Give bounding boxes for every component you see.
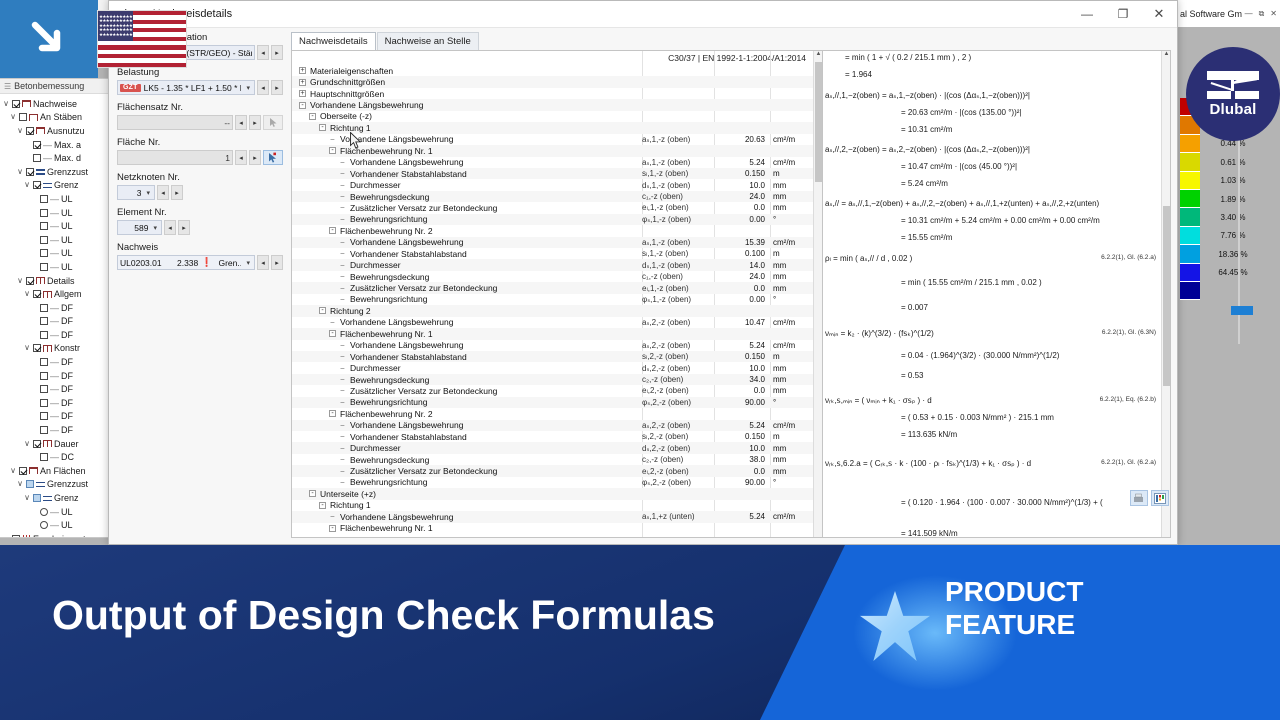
label-nachweis: Nachweis <box>117 242 283 253</box>
formula-line: = min ( 1 + √ ( 0.2 / 215.1 mm ) , 2 ) <box>845 53 971 62</box>
collapse-icon[interactable]: - <box>318 124 327 131</box>
dash-icon: — <box>50 248 59 258</box>
secondary-minimize-icon[interactable]: — <box>1242 9 1256 18</box>
navigator-item[interactable]: ∨An Stäben <box>2 111 109 125</box>
belastung-prev-button[interactable]: ◂ <box>257 80 269 95</box>
checkbox-icon[interactable] <box>12 100 20 108</box>
combo-element-nr[interactable]: 589 ▾ <box>117 220 162 235</box>
tag-gzt-2: GZT <box>120 84 141 92</box>
promo-banner: Output of Design Check Formulas PRODUCT … <box>0 545 1280 720</box>
field-belastung: Belastung GZT LK5 - 1.35 * LF1 + 1.50 * … <box>117 67 283 95</box>
row-cells: c₂,-z (oben)34.0mm <box>642 374 810 385</box>
flaechensatz-prev-button[interactable]: ◂ <box>235 115 247 130</box>
table-row[interactable]: –Durchmesserdₛ,2,-z (oben)10.0mm <box>292 442 822 453</box>
banner-badge-line2: FEATURE <box>945 610 1083 639</box>
table-row[interactable]: –Vorhandene Längsbewehrungaₛ,1,-z (oben)… <box>292 134 822 145</box>
combo-netzknoten-nr[interactable]: 3 ▾ <box>117 185 155 200</box>
twisty-icon[interactable]: ∨ <box>16 168 24 176</box>
table-row[interactable]: –Bewehrungsrichtungφₛ,2,-z (oben)90.00° <box>292 397 822 408</box>
row-label: Vorhandene Längsbewehrung <box>307 100 423 110</box>
design-check-tree[interactable]: C30/37 | EN 1992-1-1:2004/A1:2014 +Mater… <box>291 50 823 538</box>
cell-symbol: aₛ,1,-z (oben) <box>642 135 714 144</box>
formula-scroll-thumb[interactable] <box>1163 206 1170 386</box>
navigator-item[interactable]: —DF <box>2 369 109 383</box>
checkbox-icon[interactable] <box>40 236 48 244</box>
navigator-item-label: UL <box>61 235 73 245</box>
cell-symbol: aₛ,1,-z (oben) <box>642 158 714 167</box>
table-row[interactable]: -Richtung 2 <box>292 305 822 316</box>
navigator-item-label: DF <box>61 357 73 367</box>
row-cells: φₛ,1,-z (oben)0.00° <box>642 294 810 305</box>
table-row[interactable]: –Zusätzlicher Versatz zur Betondeckungeₗ… <box>292 282 822 293</box>
row-label: Richtung 1 <box>327 123 371 133</box>
row-cells: φₛ,1,-z (oben)0.00° <box>642 214 810 225</box>
checkbox-icon[interactable] <box>33 141 41 149</box>
table-row[interactable]: –Durchmesserdₛ,2,-z (oben)10.0mm <box>292 362 822 373</box>
selection-form: Bemessungssituation GZT BS1 - GZT (STR/G… <box>109 28 291 544</box>
cell-symbol: eₗ,2,-z (oben) <box>642 386 714 395</box>
double-icon <box>43 439 52 448</box>
dash-icon: — <box>50 194 59 204</box>
secondary-close-icon[interactable]: ✕ <box>1267 9 1280 18</box>
row-cells <box>642 225 810 236</box>
cell-value: 20.63 <box>714 135 770 144</box>
navigator-item[interactable]: ∨Dauer <box>2 437 109 451</box>
table-row[interactable]: -Flächenbewehrung Nr. 1 <box>292 523 822 534</box>
element-chevron-down-icon[interactable]: ▾ <box>151 224 159 232</box>
checkbox-icon[interactable] <box>40 195 48 203</box>
expand-icon[interactable]: + <box>298 67 307 74</box>
table-row[interactable]: –Vorhandener Stabstahlabstandsₗ,2,-z (ob… <box>292 351 822 362</box>
checkbox-icon[interactable] <box>33 181 41 189</box>
table-row[interactable]: –Bewehrungsdeckungc₂,-z (oben)38.0mm <box>292 454 822 465</box>
formula-line: νᵣₖ,ꜱ,ₘᵢₙ = ( νₘᵢₙ + k₁ · σꜱₚ ) · d <box>825 396 932 405</box>
legend-value-label: 1.03 % <box>1202 172 1264 190</box>
collapse-icon[interactable]: - <box>308 113 317 120</box>
row-cells: aₛ,1,-z (oben)20.63cm²/m <box>642 134 810 145</box>
arrow-down-right-icon <box>27 17 71 61</box>
cell-unit: mm <box>770 467 810 476</box>
table-row[interactable]: -Flächenbewehrung Nr. 1 <box>292 145 822 156</box>
navigator-item[interactable]: —UL <box>2 233 109 247</box>
navigator-item[interactable]: —DF <box>2 355 109 369</box>
graphic-settings-icon[interactable] <box>1151 490 1169 506</box>
row-cells <box>642 99 810 110</box>
table-row[interactable]: –Bewehrungsrichtungφₛ,2,-z (oben)90.00° <box>292 477 822 488</box>
navigator-item[interactable]: —UL <box>2 518 109 532</box>
checkbox-icon[interactable] <box>40 304 48 312</box>
leaf-marker: – <box>338 353 347 360</box>
input-flaeche-nr[interactable]: 1 <box>117 150 233 165</box>
row-cells: aₛ,1,-z (oben)5.24cm²/m <box>642 157 810 168</box>
twisty-icon[interactable]: ∨ <box>23 440 31 448</box>
checkbox-icon[interactable] <box>19 113 27 121</box>
navigator-item[interactable]: —UL <box>2 192 109 206</box>
cell-unit: mm <box>770 203 810 212</box>
checkbox-icon[interactable] <box>12 535 20 538</box>
navigator-item[interactable]: ∨Grenz <box>2 491 109 505</box>
radio-icon[interactable] <box>40 521 48 529</box>
flaeche-next-button[interactable]: ▸ <box>249 150 261 165</box>
collapse-icon[interactable]: - <box>328 227 337 234</box>
nachweis-prev-button[interactable]: ◂ <box>257 255 269 270</box>
leaf-marker: – <box>328 319 337 326</box>
formula-line: ρₗ = min ( aₛ,// / d , 0.02 ) <box>825 254 912 263</box>
row-cells: sₗ,1,-z (oben)0.100m <box>642 248 810 259</box>
collapse-icon[interactable]: - <box>308 490 317 497</box>
table-row[interactable]: –Durchmesserdₛ,1,-z (oben)10.0mm <box>292 179 822 190</box>
twisty-icon[interactable]: ∨ <box>16 127 24 135</box>
row-cells: eₗ,2,-z (oben)0.0mm <box>642 465 810 476</box>
table-row[interactable]: –Vorhandene Längsbewehrungaₛ,2,-z (oben)… <box>292 317 822 328</box>
leaf-marker: – <box>338 193 347 200</box>
legend-color-segment <box>1180 153 1200 171</box>
navigator-item[interactable]: ∨Grenzzust <box>2 478 109 492</box>
label-flaechensatz-nr: Flächensatz Nr. <box>117 102 283 113</box>
checkbox-icon[interactable] <box>40 222 48 230</box>
collapse-icon[interactable]: - <box>318 307 327 314</box>
navigator-item[interactable]: ∨Allgem <box>2 287 109 301</box>
navigator-item[interactable]: —DF <box>2 315 109 329</box>
table-row[interactable]: –Durchmesserdₛ,1,-z (oben)14.0mm <box>292 259 822 270</box>
table-row[interactable]: –Zusätzlicher Versatz zur Betondeckungeₗ… <box>292 202 822 213</box>
navigator-item[interactable]: —DF <box>2 410 109 424</box>
tree-rows-container[interactable]: +Materialeigenschaften+Grundschnittgröße… <box>292 65 822 534</box>
legend-color-segment <box>1180 135 1200 153</box>
tree-scroll-up-icon[interactable]: ▲ <box>814 51 823 61</box>
twisty-icon[interactable]: ∨ <box>16 480 24 488</box>
nachweis-chevron-down-icon[interactable]: ▾ <box>244 259 252 267</box>
navigator-item[interactable]: —Max. d <box>2 151 109 165</box>
row-label: Oberseite (-z) <box>317 111 372 121</box>
navigator-item[interactable]: —DC <box>2 450 109 464</box>
nachweis-next-button[interactable]: ▸ <box>271 255 283 270</box>
cell-value: 5.24 <box>714 421 770 430</box>
twisty-icon[interactable]: ∨ <box>16 277 24 285</box>
cell-unit: mm <box>770 386 810 395</box>
element-prev-button[interactable]: ◂ <box>164 220 176 235</box>
expand-icon[interactable]: + <box>298 90 307 97</box>
checkbox-icon[interactable] <box>40 209 48 217</box>
frame-icon <box>29 113 38 122</box>
netzknoten-prev-button[interactable]: ◂ <box>157 185 169 200</box>
twisty-icon[interactable]: ∨ <box>2 100 10 108</box>
flaeche-prev-button[interactable]: ◂ <box>235 150 247 165</box>
cell-unit: cm²/m <box>770 318 810 327</box>
formula-scrollbar[interactable]: ▲ <box>1161 51 1170 537</box>
checkbox-icon[interactable] <box>33 344 41 352</box>
leaf-marker: – <box>338 456 347 463</box>
tab-nachweisdetails[interactable]: Nachweisdetails <box>291 32 376 50</box>
cell-unit: cm²/m <box>770 341 810 350</box>
cell-value: 90.00 <box>714 478 770 487</box>
navigator-item-label: Ergebniswerte <box>33 534 91 538</box>
formula-output-pane[interactable]: = min ( 1 + √ ( 0.2 / 215.1 mm ) , 2 )= … <box>823 50 1171 538</box>
table-row[interactable]: –Zusätzlicher Versatz zur Betondeckungeₗ… <box>292 465 822 476</box>
checkbox-icon[interactable] <box>40 317 48 325</box>
dialog-close-icon[interactable]: ✕ <box>1141 1 1177 27</box>
table-row[interactable]: –Bewehrungsrichtungφₛ,1,-z (oben)0.00° <box>292 214 822 225</box>
secondary-maximize-icon[interactable]: ⧉ <box>1256 9 1268 19</box>
combo-nachweis[interactable]: UL0203.01 2.338 ❗ Gren... ▾ <box>117 255 255 270</box>
cell-value: 5.24 <box>714 341 770 350</box>
cell-value: 0.0 <box>714 203 770 212</box>
dash-icon: — <box>50 316 59 326</box>
input-flaechensatz-nr[interactable]: -- <box>117 115 233 130</box>
checkbox-icon[interactable] <box>26 168 34 176</box>
table-row[interactable]: –Vorhandene Längsbewehrungaₛ,1,-z (oben)… <box>292 157 822 168</box>
collapse-icon[interactable]: - <box>298 102 307 109</box>
twisty-icon[interactable]: › <box>2 535 10 538</box>
table-row[interactable]: +Hauptschnittgrößen <box>292 88 822 99</box>
leaf-marker: – <box>338 170 347 177</box>
printout-report-icon[interactable] <box>1130 490 1148 506</box>
table-row[interactable]: –Vorhandener Stabstahlabstandsₗ,2,-z (ob… <box>292 431 822 442</box>
dash-icon: — <box>50 384 59 394</box>
table-row[interactable]: -Richtung 1 <box>292 122 822 133</box>
label-belastung: Belastung <box>117 67 283 78</box>
table-row[interactable]: -Vorhandene Längsbewehrung <box>292 99 822 110</box>
row-label: Vorhandener Stabstahlabstand <box>347 352 467 362</box>
material-standard-label: C30/37 | EN 1992-1-1:2004/A1:2014 <box>668 53 806 63</box>
checkbox-icon[interactable] <box>40 263 48 271</box>
field-element-nr: Element Nr. 589 ▾ ◂ ▸ <box>117 207 283 235</box>
row-cells <box>642 65 810 76</box>
checkbox-icon[interactable] <box>26 277 34 285</box>
table-row[interactable]: –Bewehrungsdeckungc₂,-z (oben)34.0mm <box>292 374 822 385</box>
flaechensatz-next-button[interactable]: ▸ <box>249 115 261 130</box>
leaf-marker: – <box>338 250 347 257</box>
combo-belastung[interactable]: GZT LK5 - 1.35 * LF1 + 1.50 * LF2 + ... … <box>117 80 255 95</box>
dialog-maximize-icon[interactable]: ❐ <box>1105 1 1141 27</box>
checkbox-icon[interactable] <box>40 372 48 380</box>
checkbox-icon[interactable] <box>26 127 34 135</box>
radio-icon[interactable] <box>40 508 48 516</box>
navigator-item[interactable]: —UL <box>2 206 109 220</box>
navigator-item[interactable]: —DF <box>2 423 109 437</box>
table-row[interactable]: –Bewehrungsdeckungc₁,-z (oben)24.0mm <box>292 271 822 282</box>
table-row[interactable]: –Vorhandener Stabstahlabstandsₗ,1,-z (ob… <box>292 168 822 179</box>
table-row[interactable]: –Vorhandene Längsbewehrungaₛ,2,-z (oben)… <box>292 420 822 431</box>
table-row[interactable]: -Flächenbewehrung Nr. 2 <box>292 225 822 236</box>
table-row[interactable]: –Bewehrungsrichtungφₛ,1,-z (oben)0.00° <box>292 294 822 305</box>
value-nachweis-extra: Gren... <box>215 258 241 268</box>
row-label: Bewehrungsrichtung <box>347 397 428 407</box>
cell-unit: m <box>770 352 810 361</box>
checkbox-icon[interactable] <box>40 412 48 420</box>
details-tabs[interactable]: Nachweisdetails Nachweise an Stelle <box>291 32 1171 50</box>
twisty-icon[interactable]: ∨ <box>23 290 31 298</box>
netzknoten-chevron-down-icon[interactable]: ▾ <box>144 189 152 197</box>
navigator-item-label: Grenz <box>54 180 79 190</box>
table-row[interactable]: -Flächenbewehrung Nr. 2 <box>292 408 822 419</box>
cell-value: 0.00 <box>714 215 770 224</box>
leaf-marker: – <box>338 159 347 166</box>
twisty-icon[interactable]: ∨ <box>9 113 17 121</box>
collapse-icon[interactable]: - <box>328 330 337 337</box>
leaf-marker: – <box>338 365 347 372</box>
row-cells: eₗ,2,-z (oben)0.0mm <box>642 385 810 396</box>
navigator-item[interactable]: ∨Details <box>2 274 109 288</box>
collapse-icon[interactable]: - <box>328 147 337 154</box>
checkbox-icon[interactable] <box>33 494 41 502</box>
twisty-icon[interactable]: ∨ <box>23 344 31 352</box>
dialog-minimize-icon[interactable]: — <box>1069 1 1105 27</box>
navigator-item[interactable]: ∨Konstr <box>2 342 109 356</box>
checkbox-icon[interactable] <box>26 480 34 488</box>
leaf-marker: – <box>338 285 347 292</box>
twisty-icon[interactable]: ∨ <box>23 494 31 502</box>
navigator-item[interactable]: —DF <box>2 396 109 410</box>
dialog-footer-icons[interactable] <box>1130 490 1169 506</box>
checkbox-icon[interactable] <box>40 385 48 393</box>
checkbox-icon[interactable] <box>40 399 48 407</box>
table-row[interactable]: -Flächenbewehrung Nr. 1 <box>292 328 822 339</box>
row-cells: aₛ,2,-z (oben)5.24cm²/m <box>642 340 810 351</box>
navigator-item[interactable]: —UL <box>2 219 109 233</box>
secondary-window-titlebar: al Software GmbH — ⧉ ✕ <box>1178 0 1280 27</box>
checkbox-icon[interactable] <box>40 453 48 461</box>
table-row[interactable]: –Vorhandene Längsbewehrungaₛ,1,+z (unten… <box>292 511 822 522</box>
table-row[interactable]: –Bewehrungsdeckungc₁,-z (oben)24.0mm <box>292 191 822 202</box>
dash-icon: — <box>43 153 52 163</box>
row-cells <box>642 305 810 316</box>
cell-symbol: c₂,-z (oben) <box>642 375 714 384</box>
navigator-item[interactable]: ∨Grenz <box>2 179 109 193</box>
tree-scrollbar[interactable]: ▲ <box>813 51 822 537</box>
bemessungssituation-prev-button[interactable]: ◂ <box>257 45 269 60</box>
bemessungssituation-next-button[interactable]: ▸ <box>271 45 283 60</box>
row-label: Materialeigenschaften <box>307 66 393 76</box>
formula-scroll-up-icon[interactable]: ▲ <box>1162 51 1171 60</box>
cell-symbol: dₛ,2,-z (oben) <box>642 364 714 373</box>
flaechensatz-pick-icon[interactable] <box>263 115 283 130</box>
dash-icon: — <box>50 303 59 313</box>
banner-badge-line1: PRODUCT <box>945 577 1083 606</box>
cell-value: 0.150 <box>714 432 770 441</box>
navigator-item[interactable]: —UL <box>2 247 109 261</box>
navigator-item[interactable]: —Max. a <box>2 138 109 152</box>
legend-color-segment <box>1180 190 1200 208</box>
row-label: Unterseite (+z) <box>317 489 376 499</box>
label-element-nr: Element Nr. <box>117 207 283 218</box>
cell-unit: cm²/m <box>770 512 810 521</box>
checkbox-icon[interactable] <box>19 467 27 475</box>
expand-icon[interactable]: + <box>298 79 307 86</box>
table-row[interactable]: -Richtung 1 <box>292 500 822 511</box>
formula-line: = min ( 15.55 cm²/m / 215.1 mm , 0.02 ) <box>901 278 1042 287</box>
row-label: Bewehrungsdeckung <box>347 375 429 385</box>
table-row[interactable]: -Oberseite (-z) <box>292 111 822 122</box>
row-cells <box>642 488 810 499</box>
tab-nachweise-an-stelle[interactable]: Nachweise an Stelle <box>377 32 479 50</box>
navigator-item[interactable]: ›Ergebniswerte <box>2 532 109 538</box>
cell-value: 24.0 <box>714 192 770 201</box>
belastung-next-button[interactable]: ▸ <box>271 80 283 95</box>
row-label: Vorhandener Stabstahlabstand <box>347 432 467 442</box>
cell-value: 0.150 <box>714 352 770 361</box>
cell-value: 0.100 <box>714 249 770 258</box>
table-row[interactable]: +Grundschnittgrößen <box>292 76 822 87</box>
row-cells: dₛ,2,-z (oben)10.0mm <box>642 362 810 373</box>
collapse-icon[interactable]: - <box>318 502 327 509</box>
navigator-header: ☰ Betonbemessung <box>0 79 109 94</box>
checkbox-icon[interactable] <box>33 440 41 448</box>
twisty-icon[interactable]: ∨ <box>9 467 17 475</box>
cell-symbol: c₁,-z (oben) <box>642 272 714 281</box>
checkbox-icon[interactable] <box>33 290 41 298</box>
row-label: Bewehrungsrichtung <box>347 294 428 304</box>
dash-icon: — <box>50 452 59 462</box>
checkbox-icon[interactable] <box>33 154 41 162</box>
row-label: Zusätzlicher Versatz zur Betondeckung <box>347 386 497 396</box>
formula-line: = 10.31 cm²/m + 5.24 cm²/m + 0.00 cm²/m … <box>901 216 1100 225</box>
navigator-item[interactable]: ∨Nachweise <box>2 97 109 111</box>
row-label: Bewehrungsrichtung <box>347 477 428 487</box>
collapse-icon[interactable]: - <box>328 525 337 532</box>
row-label: Hauptschnittgrößen <box>307 89 384 99</box>
table-row[interactable]: –Zusätzlicher Versatz zur Betondeckungeₗ… <box>292 385 822 396</box>
navigator-tree[interactable]: ∨Nachweise∨An Stäben∨Ausnutzu—Max. a—Max… <box>0 94 109 538</box>
table-row[interactable]: –Vorhandene Längsbewehrungaₛ,2,-z (oben)… <box>292 340 822 351</box>
cell-symbol: sₗ,2,-z (oben) <box>642 432 714 441</box>
cell-unit: mm <box>770 375 810 384</box>
checkbox-icon[interactable] <box>40 358 48 366</box>
navigator-item-label: DF <box>61 371 73 381</box>
navigator-item-label: Allgem <box>54 289 82 299</box>
cell-value: 5.24 <box>714 512 770 521</box>
navigator-item[interactable]: —UL <box>2 505 109 519</box>
legend-color-segment <box>1180 208 1200 226</box>
navigator-item[interactable]: ∨Grenzzust <box>2 165 109 179</box>
netzknoten-next-button[interactable]: ▸ <box>171 185 183 200</box>
navigator-item[interactable]: —DF <box>2 382 109 396</box>
cell-unit: mm <box>770 284 810 293</box>
navigator-item[interactable]: ∨An Flächen <box>2 464 109 478</box>
row-cells: aₛ,1,-z (oben)15.39cm²/m <box>642 237 810 248</box>
leaf-marker: – <box>338 387 347 394</box>
navigator-item[interactable]: —DF <box>2 328 109 342</box>
navigator-item[interactable]: —UL <box>2 260 109 274</box>
leaf-marker: – <box>328 513 337 520</box>
results-column: Nachweisdetails Nachweise an Stelle C30/… <box>291 28 1177 544</box>
twisty-icon[interactable]: ∨ <box>23 181 31 189</box>
collapse-icon[interactable]: - <box>328 410 337 417</box>
table-row[interactable]: -Unterseite (+z) <box>292 488 822 499</box>
cell-symbol: φₛ,2,-z (oben) <box>642 398 714 407</box>
table-row[interactable]: –Vorhandener Stabstahlabstandsₗ,1,-z (ob… <box>292 248 822 259</box>
checkbox-icon[interactable] <box>40 426 48 434</box>
chevron-down-icon[interactable]: ▾ <box>244 84 252 92</box>
navigator-item[interactable]: —DF <box>2 301 109 315</box>
element-next-button[interactable]: ▸ <box>178 220 190 235</box>
row-cells: c₁,-z (oben)24.0mm <box>642 191 810 202</box>
row-label: Durchmesser <box>347 180 401 190</box>
cell-symbol: dₛ,1,-z (oben) <box>642 181 714 190</box>
navigator-item-label: DF <box>61 425 73 435</box>
table-row[interactable]: –Vorhandene Längsbewehrungaₛ,1,-z (oben)… <box>292 237 822 248</box>
dialog-window-buttons[interactable]: — ❐ ✕ <box>1069 1 1177 27</box>
tree-scroll-thumb[interactable] <box>815 62 822 182</box>
table-row[interactable]: +Materialeigenschaften <box>292 65 822 76</box>
checkbox-icon[interactable] <box>40 249 48 257</box>
checkbox-icon[interactable] <box>40 331 48 339</box>
cell-value: 0.0 <box>714 284 770 293</box>
legend-slider-handle[interactable] <box>1231 306 1253 315</box>
star-icon <box>860 591 930 661</box>
navigator-item[interactable]: ∨Ausnutzu <box>2 124 109 138</box>
flaeche-pick-icon[interactable] <box>263 150 283 165</box>
